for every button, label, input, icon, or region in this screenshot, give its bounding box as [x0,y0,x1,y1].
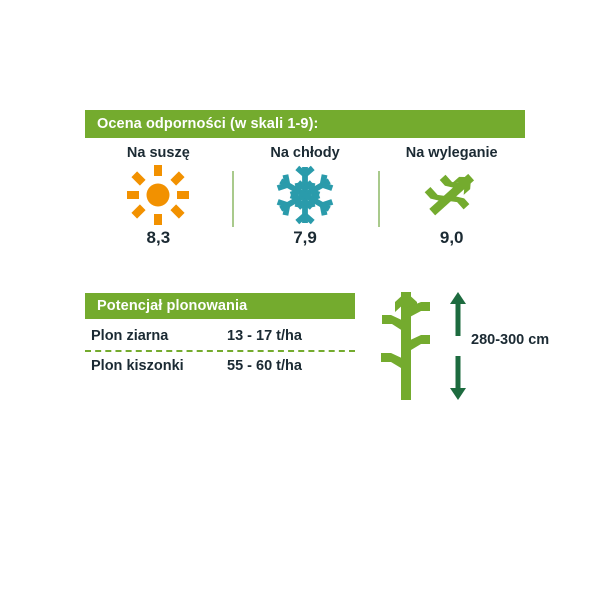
double-arrow-vertical-icon [447,290,469,402]
resistance-column-lodging: Na wyleganie 9,0 [378,143,525,263]
resistance-columns: Na suszę 8,3 [85,143,525,263]
snowflake-icon [273,165,337,225]
yield-header-bar: Potencjał plonowania [85,293,355,319]
infographic-sheet: Ocena odporności (w skali 1-9): Na suszę [0,0,600,600]
resistance-value-lodging: 9,0 [440,227,464,249]
resistance-column-cold: Na chłody [232,143,379,263]
yield-row-value-silage: 55 - 60 t/ha [227,358,302,374]
resistance-header-bar: Ocena odporności (w skali 1-9): [85,110,525,138]
yield-row-value-grain: 13 - 17 t/ha [227,328,302,344]
resistance-label-cold: Na chłody [270,143,339,165]
resistance-header-title: Ocena odporności (w skali 1-9): [97,116,318,132]
table-row: Plon kiszonki 55 - 60 t/ha [85,352,355,380]
yield-row-label-silage: Plon kiszonki [85,358,227,374]
resistance-label-lodging: Na wyleganie [406,143,498,165]
yield-table: Plon ziarna 13 - 17 t/ha Plon kiszonki 5… [85,322,355,380]
yield-row-label-grain: Plon ziarna [85,328,227,344]
yield-header-title: Potencjał plonowania [97,298,247,314]
plant-height-label: 280-300 cm [471,332,549,348]
resistance-value-drought: 8,3 [147,227,171,249]
table-row: Plon ziarna 13 - 17 t/ha [85,322,355,350]
lodged-plant-icon [420,165,484,225]
resistance-value-cold: 7,9 [293,227,317,249]
resistance-column-drought: Na suszę 8,3 [85,143,232,263]
sun-icon [126,165,190,225]
resistance-label-drought: Na suszę [127,143,190,165]
plant-height-figure: 280-300 cm [375,288,550,403]
corn-plant-icon [375,288,437,400]
